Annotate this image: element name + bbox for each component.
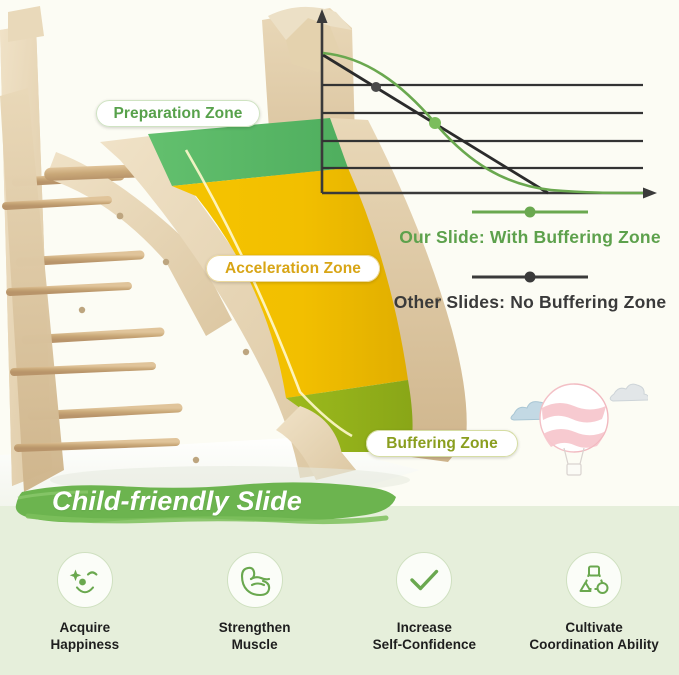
shapes-coordination-icon xyxy=(575,561,613,599)
zone-label-buffering: Buffering Zone xyxy=(366,430,518,457)
balloon-envelope xyxy=(540,384,608,452)
benefit-increase-self-confidence: Increase Self-Confidence xyxy=(340,552,510,672)
zone-label-acceleration-text: Acceleration Zone xyxy=(206,255,380,282)
page-title: Child-friendly Slide xyxy=(52,486,302,517)
slide-photo-area: Preparation Zone Acceleration Zone Buffe… xyxy=(0,0,679,506)
x-axis-arrowhead xyxy=(643,188,657,199)
product-infographic: Preparation Zone Acceleration Zone Buffe… xyxy=(0,0,679,675)
balloon-svg xyxy=(508,372,648,480)
deceleration-comparison-chart xyxy=(305,5,673,205)
benefit-acquire-happiness: Acquire Happiness xyxy=(0,552,170,672)
benefit-label-strengthen-muscle: Strengthen Muscle xyxy=(219,619,291,654)
chart-legend: Our Slide: With Buffering Zone Other Sli… xyxy=(390,205,670,329)
checkmark-icon xyxy=(405,561,443,599)
shapes-coordination-icon-wrapper xyxy=(566,552,622,608)
smiley-wink-icon xyxy=(66,561,104,599)
chart-gridlines xyxy=(322,85,643,168)
chart-svg xyxy=(305,5,673,205)
cloud-gray-icon xyxy=(610,384,648,401)
hot-air-balloon-decoration xyxy=(508,372,648,480)
zone-label-acceleration: Acceleration Zone xyxy=(206,255,380,282)
series-other-slides-marker xyxy=(371,82,381,92)
benefit-label-increase-self-confidence: Increase Self-Confidence xyxy=(373,619,477,654)
series-our-slide-marker xyxy=(429,117,441,129)
zone-label-preparation: Preparation Zone xyxy=(96,100,260,127)
benefit-cultivate-coordination-ability: Cultivate Coordination Ability xyxy=(509,552,679,672)
legend-label-our-slide: Our Slide: With Buffering Zone xyxy=(390,227,670,248)
checkmark-icon-wrapper xyxy=(396,552,452,608)
legend-swatch-other-slides xyxy=(470,270,590,284)
legend-label-other-slides: Other Slides: No Buffering Zone xyxy=(390,292,670,313)
benefit-label-cultivate-coordination-ability: Cultivate Coordination Ability xyxy=(529,619,659,654)
smiley-wink-icon-wrapper xyxy=(57,552,113,608)
flexed-arm-icon-wrapper xyxy=(227,552,283,608)
benefits-list: Acquire Happiness Strengthen Muscle xyxy=(0,552,679,672)
legend-swatch-our-slide xyxy=(470,205,590,219)
legend-item-our-slide: Our Slide: With Buffering Zone xyxy=(390,205,670,248)
y-axis-arrowhead xyxy=(317,9,328,23)
series-our-slide-line xyxy=(323,53,643,193)
flexed-arm-icon xyxy=(236,561,274,599)
legend-item-other-slides: Other Slides: No Buffering Zone xyxy=(390,270,670,313)
zone-label-preparation-text: Preparation Zone xyxy=(96,100,260,127)
benefit-strengthen-muscle: Strengthen Muscle xyxy=(170,552,340,672)
benefit-label-acquire-happiness: Acquire Happiness xyxy=(51,619,120,654)
zone-label-buffering-text: Buffering Zone xyxy=(366,430,518,457)
